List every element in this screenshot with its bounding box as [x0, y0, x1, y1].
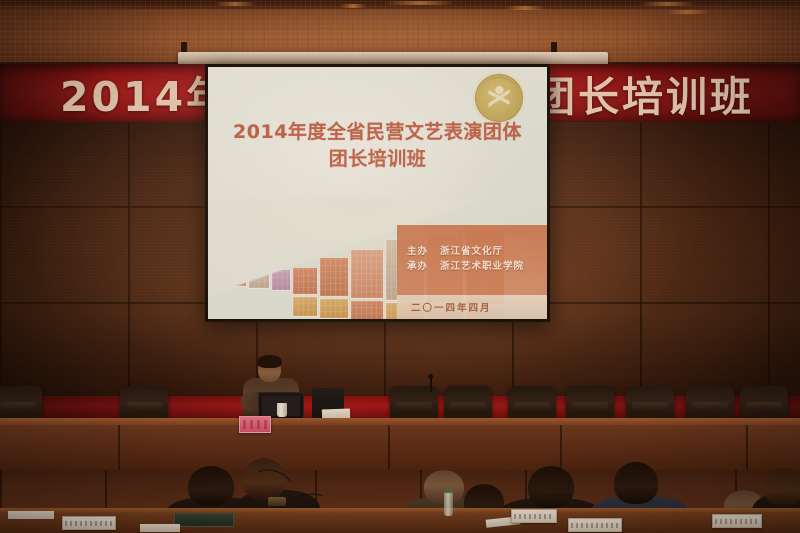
stage-chair: [740, 386, 788, 420]
attendee-head: [764, 468, 800, 506]
ceiling-light-1: [215, 2, 255, 6]
ceiling-light-4: [505, 6, 545, 10]
organizer-name: 浙江省文化厅: [440, 246, 503, 257]
desk-paper: [8, 511, 54, 519]
slide-title-line2: 团长培训班: [208, 146, 547, 173]
slide-credit-box: 主办浙江省文化厅 承办浙江艺术职业学院: [397, 225, 547, 295]
ceiling-light-3: [385, 1, 455, 5]
desk-paper: [140, 524, 180, 532]
screen-hotspot: [242, 82, 246, 85]
ceiling-light-5: [640, 2, 695, 6]
stage-chair: [444, 386, 492, 420]
host-name: 浙江艺术职业学院: [440, 261, 524, 272]
presenter-hair: [257, 355, 282, 368]
conference-hall-photo: 2014年度 体团长培训班 2014年度全省民营文艺表演团体 团长培训班: [0, 0, 800, 533]
microphone-head: [428, 374, 433, 379]
slide-title-line1: 2014年度全省民营文艺表演团体: [208, 119, 547, 146]
stage-chair: [626, 386, 674, 420]
slide-date: 二〇一四年四月: [411, 300, 492, 314]
ceiling-light-6: [665, 10, 710, 14]
stage-table-seam: [118, 425, 120, 470]
audience-desk-edge: [0, 508, 800, 512]
stage-chair: [686, 386, 734, 420]
stage-chair: [566, 386, 614, 420]
attendee-name-placard: [511, 509, 557, 523]
audience-desk: [0, 508, 800, 533]
stage-chair: [120, 386, 168, 420]
ceiling-light-2: [340, 4, 366, 8]
stage-table-seam: [746, 425, 748, 470]
organizer-label: 主办: [407, 246, 428, 257]
attendee-head: [188, 466, 234, 506]
dancer-emblem-icon: [475, 74, 523, 122]
green-folder: [174, 513, 234, 527]
attendee-head: [528, 466, 574, 508]
attendee-name-placard: [712, 514, 762, 528]
ceiling-strip: [0, 0, 800, 9]
stage-table-seam: [560, 425, 562, 470]
water-bottle: [444, 492, 453, 516]
water-cup: [277, 403, 287, 417]
projection-screen-frame: 2014年度全省民营文艺表演团体 团长培训班: [205, 64, 550, 322]
attendee-name-placard: [62, 516, 116, 530]
slide-date-box: 二〇一四年四月: [397, 295, 547, 319]
stage-table: [0, 418, 800, 470]
attendee-name-placard: [568, 518, 622, 532]
slide-title: 2014年度全省民营文艺表演团体 团长培训班: [208, 119, 547, 173]
stage-table-seam: [388, 425, 390, 470]
host-label: 承办: [407, 261, 428, 272]
presenter-name-placard: [239, 416, 271, 433]
stage-table-edge: [0, 418, 800, 425]
dancer-figure: [489, 86, 510, 111]
slide-host-row: 承办浙江艺术职业学院: [407, 258, 524, 272]
stage-chair: [508, 386, 556, 420]
slide-organizer-row: 主办浙江省文化厅: [407, 243, 503, 257]
microphone-stand: [430, 378, 432, 392]
stage-chair: [0, 386, 42, 420]
projection-screen: 2014年度全省民营文艺表演团体 团长培训班: [208, 67, 547, 319]
bottle-cap: [445, 488, 452, 493]
attendee-head: [614, 462, 658, 504]
